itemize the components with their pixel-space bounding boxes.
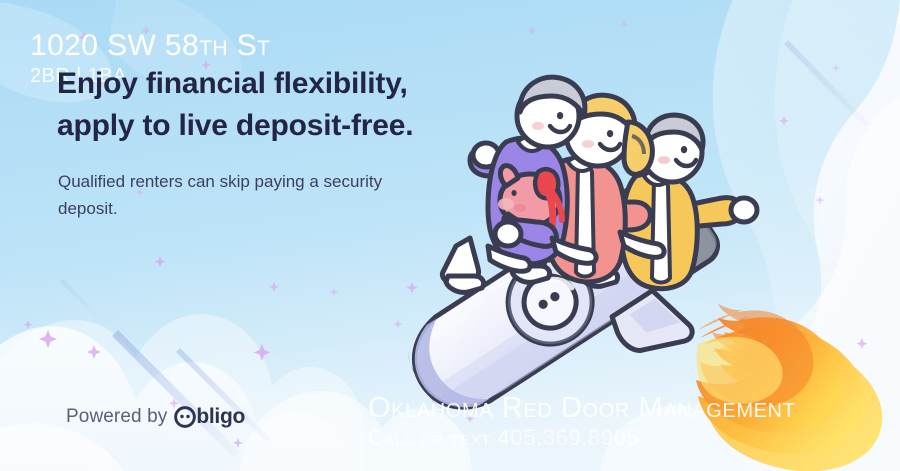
promo-headline-line2: apply to live deposit-free. (57, 105, 527, 147)
obligo-wordmark-text: bligo (196, 405, 245, 429)
brand-contact-block: Oklahoma Red Door Management Call or tex… (368, 392, 795, 451)
powered-by-label: Powered by (66, 406, 167, 428)
property-address: 1020 SW 58th St (30, 30, 270, 62)
brand-contact-phone[interactable]: Call or text 405.369.8905 (368, 425, 795, 451)
promo-headline-line1: Enjoy financial flexibility, (57, 67, 408, 100)
promo-banner: 1020 SW 58th St 2BR | 1BA (0, 0, 900, 471)
powered-by-obligo[interactable]: Powered by bligo (66, 405, 245, 429)
promo-headline: Enjoy financial flexibility, apply to li… (57, 63, 527, 147)
promo-body-line1: Qualified renters can skip paying a (58, 172, 319, 191)
brand-company-name: Oklahoma Red Door Management (368, 392, 795, 424)
obligo-o-mark-icon (174, 406, 196, 428)
promo-body-copy: Qualified renters can skip paying a secu… (58, 168, 418, 222)
obligo-logo[interactable]: bligo (174, 405, 245, 429)
